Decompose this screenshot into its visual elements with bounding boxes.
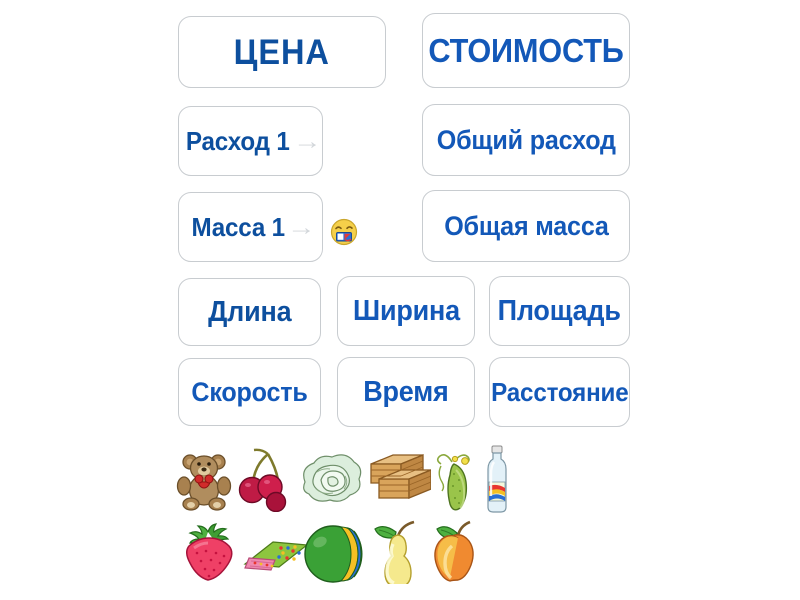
card-skorost-label: Скорость — [191, 379, 307, 406]
card-rasstoyanie-label: Расстояние — [491, 379, 628, 405]
laughing-emoji-icon — [330, 218, 358, 246]
card-dlina-label: Длина — [208, 298, 291, 327]
card-dlina[interactable]: Длина — [178, 278, 321, 346]
card-obshaya-massa-label: Общая масса — [444, 213, 608, 240]
teddy-bear-icon — [175, 450, 233, 512]
card-stoimost[interactable]: СТОИМОСТЬ — [422, 13, 630, 88]
card-shirina[interactable]: Ширина — [337, 276, 475, 346]
cabbage-icon — [297, 452, 363, 508]
card-massa1[interactable]: Масса 1 → — [178, 192, 323, 262]
card-skorost[interactable]: Скорость — [178, 358, 321, 426]
card-vremya[interactable]: Время — [337, 357, 475, 427]
card-rashod1-label: Расход 1 — [186, 128, 290, 154]
pear-icon — [370, 518, 426, 584]
card-vremya-label: Время — [363, 378, 448, 407]
strawberry-icon — [178, 522, 240, 584]
card-obshiy-rashod-label: Общий расход — [436, 127, 615, 154]
card-ploshad[interactable]: Площадь — [489, 276, 630, 346]
card-cena-label: ЦЕНА — [234, 35, 330, 70]
card-obshaya-massa[interactable]: Общая масса — [422, 190, 630, 262]
cucumber-icon — [435, 446, 475, 512]
arrow-right-icon: → — [293, 128, 322, 155]
striped-ball-icon — [303, 524, 365, 584]
slide-canvas: ЦЕНА СТОИМОСТЬ Расход 1 → Общий расход М… — [0, 0, 800, 600]
card-shirina-label: Ширина — [353, 297, 460, 326]
card-stoimost-label: СТОИМОСТЬ — [428, 34, 623, 67]
card-rashod1[interactable]: Расход 1 → — [178, 106, 323, 176]
cherries-icon — [238, 446, 296, 512]
candy-bar-icon — [243, 536, 311, 576]
wooden-crates-icon — [365, 450, 431, 510]
card-rasstoyanie[interactable]: Расстояние — [489, 357, 630, 427]
apple-icon — [430, 518, 486, 584]
card-ploshad-label: Площадь — [498, 297, 621, 326]
card-cena[interactable]: ЦЕНА — [178, 16, 386, 88]
water-bottle-icon — [480, 444, 514, 514]
card-obshiy-rashod[interactable]: Общий расход — [422, 104, 630, 176]
card-massa1-label: Масса 1 — [191, 214, 284, 240]
arrow-right-icon: → — [287, 214, 316, 241]
